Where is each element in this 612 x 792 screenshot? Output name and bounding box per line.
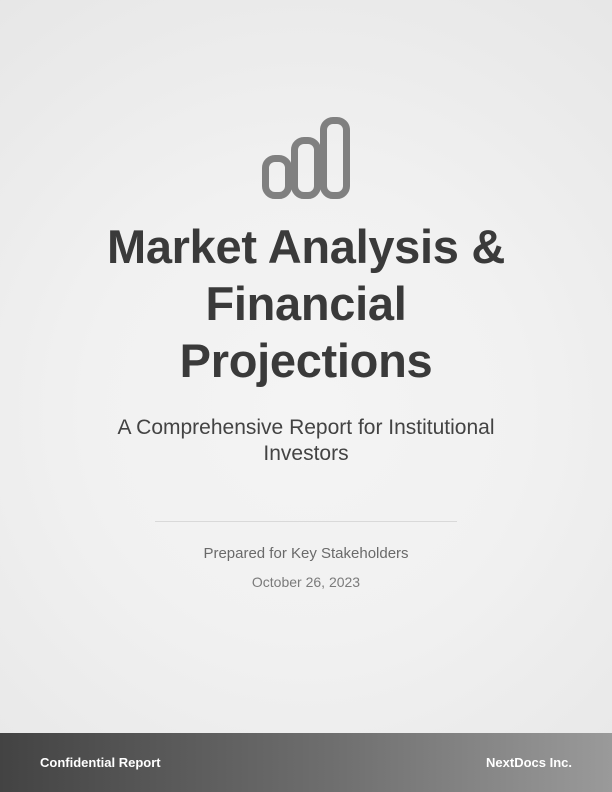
document-cover-page: Market Analysis & Financial Projections … xyxy=(0,0,612,792)
bar-chart-icon xyxy=(261,114,351,200)
page-title: Market Analysis & Financial Projections xyxy=(91,218,521,389)
document-meta: Prepared for Key Stakeholders October 26… xyxy=(203,544,408,592)
footer-confidentiality-label: Confidential Report xyxy=(40,755,161,770)
footer-company-label: NextDocs Inc. xyxy=(486,755,572,770)
page-footer: Confidential Report NextDocs Inc. xyxy=(0,733,612,792)
cover-content: Market Analysis & Financial Projections … xyxy=(0,0,612,733)
document-date: October 26, 2023 xyxy=(203,573,408,592)
divider xyxy=(155,521,457,522)
page-subtitle: A Comprehensive Report for Institutional… xyxy=(91,415,521,467)
prepared-for-label: Prepared for Key Stakeholders xyxy=(203,544,408,564)
